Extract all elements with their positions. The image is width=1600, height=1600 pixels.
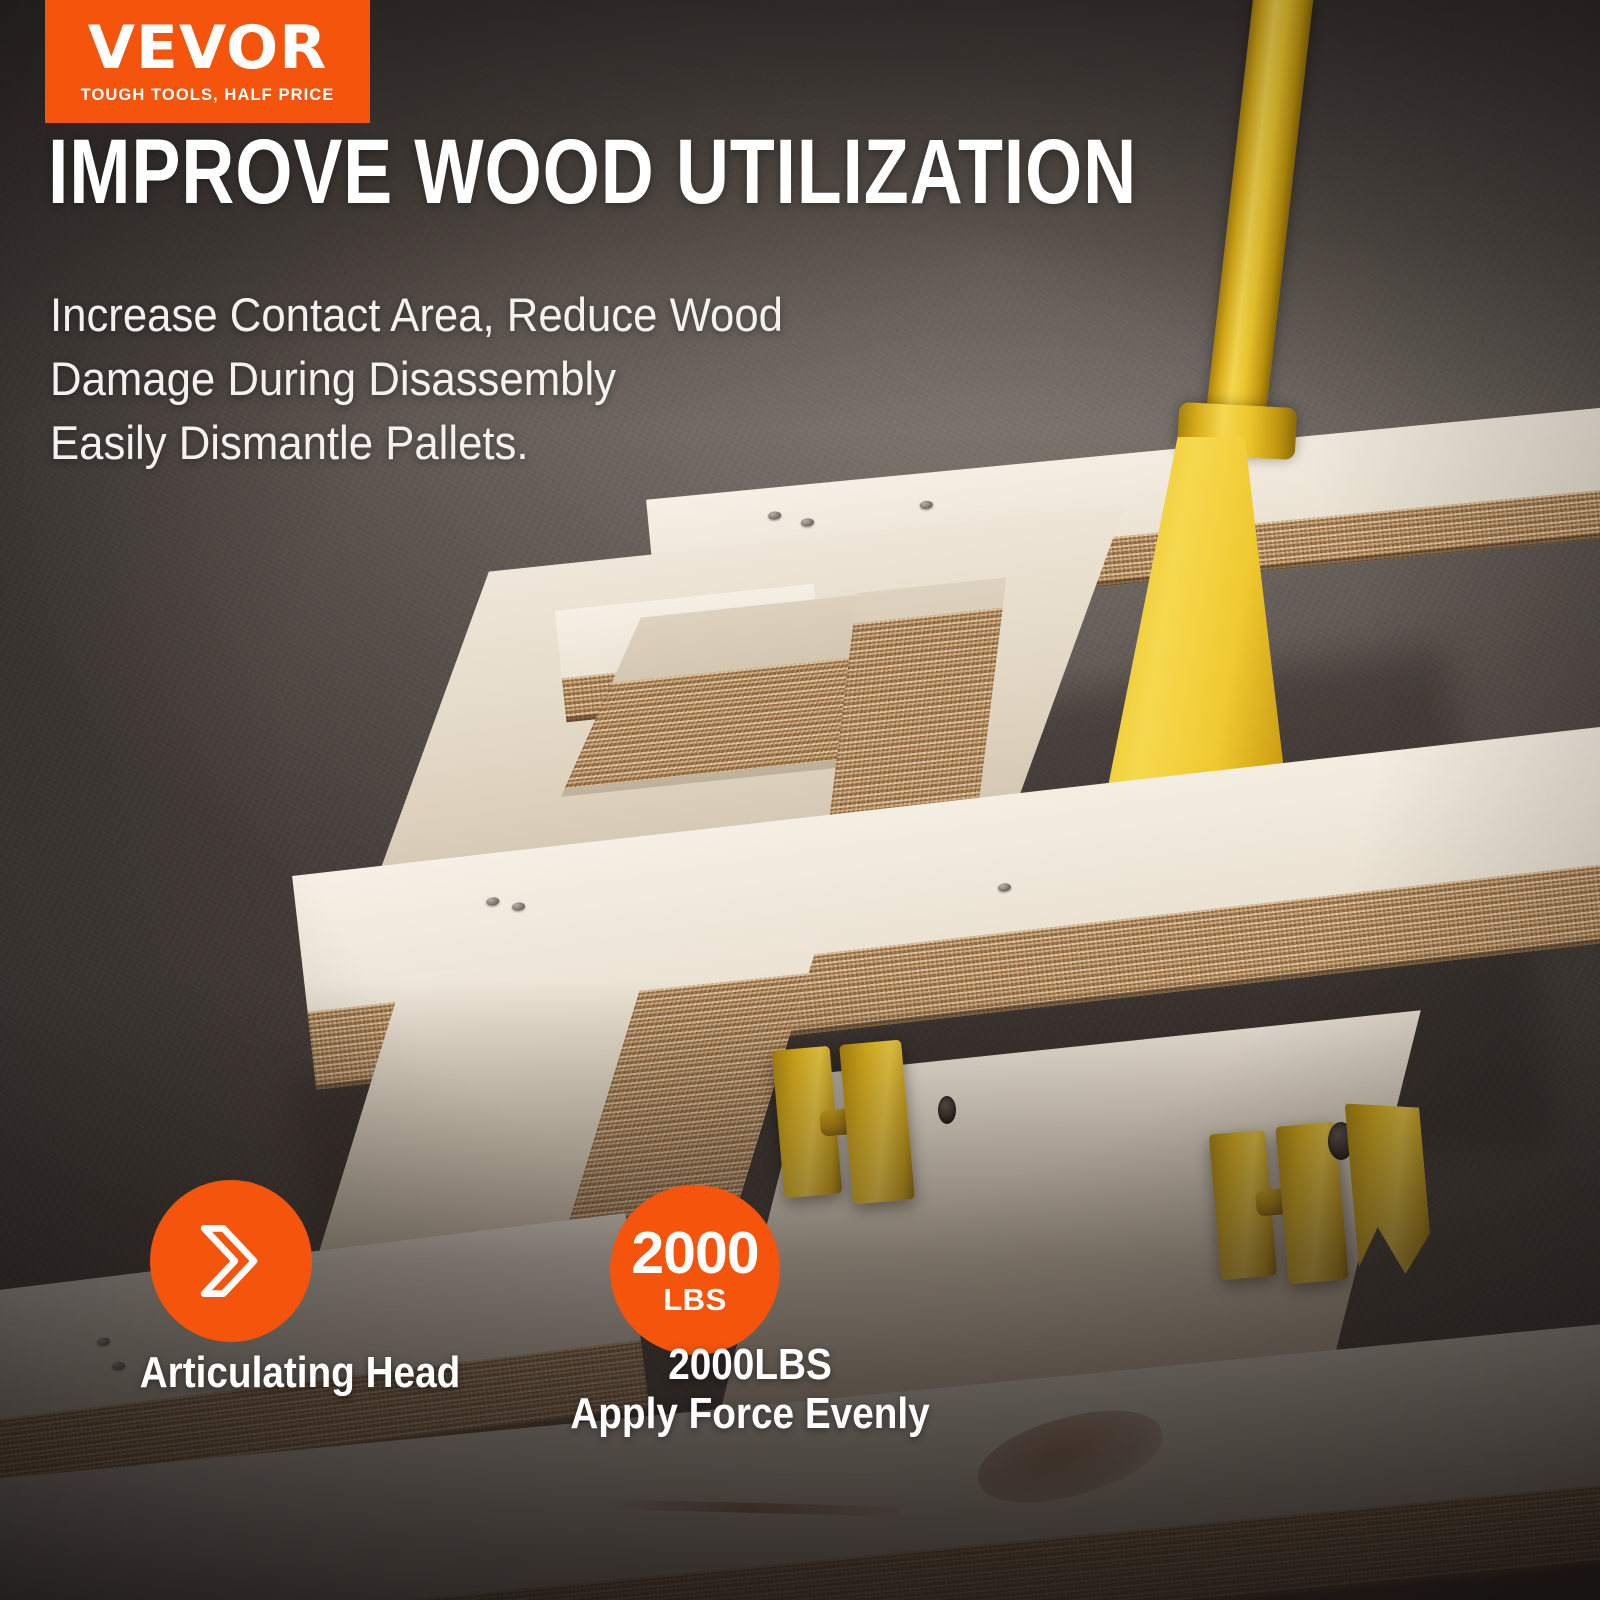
logo-tagline: TOUGH TOOLS, HALF PRICE: [81, 86, 335, 105]
subheadline-line-3: Easily Dismantle Pallets.: [50, 411, 783, 475]
logo-wordmark: VEVOR: [88, 18, 328, 78]
capacity-unit: LBS: [663, 1284, 727, 1315]
capacity-caption-line-2: Apply Force Evenly: [477, 1389, 1023, 1438]
vevor-logo: VEVOR TOUGH TOOLS, HALF PRICE: [45, 0, 370, 123]
feature-badge-capacity: 2000 LBS: [610, 1185, 780, 1355]
page-title: IMPROVE WOOD UTILIZATION: [48, 126, 1137, 220]
capacity-value: 2000: [631, 1225, 758, 1282]
subheadline-line-1: Increase Contact Area, Reduce Wood: [50, 283, 783, 347]
chevron-right-icon: [183, 1213, 279, 1309]
subheadline-line-2: Damage During Disassembly: [50, 347, 783, 411]
capacity-caption-line-1: 2000LBS: [477, 1340, 1023, 1389]
feature-badge-articulating-head: [150, 1180, 312, 1342]
feature-caption-capacity: 2000LBS Apply Force Evenly: [477, 1340, 1023, 1439]
subheadline: Increase Contact Area, Reduce Wood Damag…: [50, 283, 783, 475]
product-marketing-banner: VEVOR TOUGH TOOLS, HALF PRICE IMPROVE WO…: [0, 0, 1600, 1600]
